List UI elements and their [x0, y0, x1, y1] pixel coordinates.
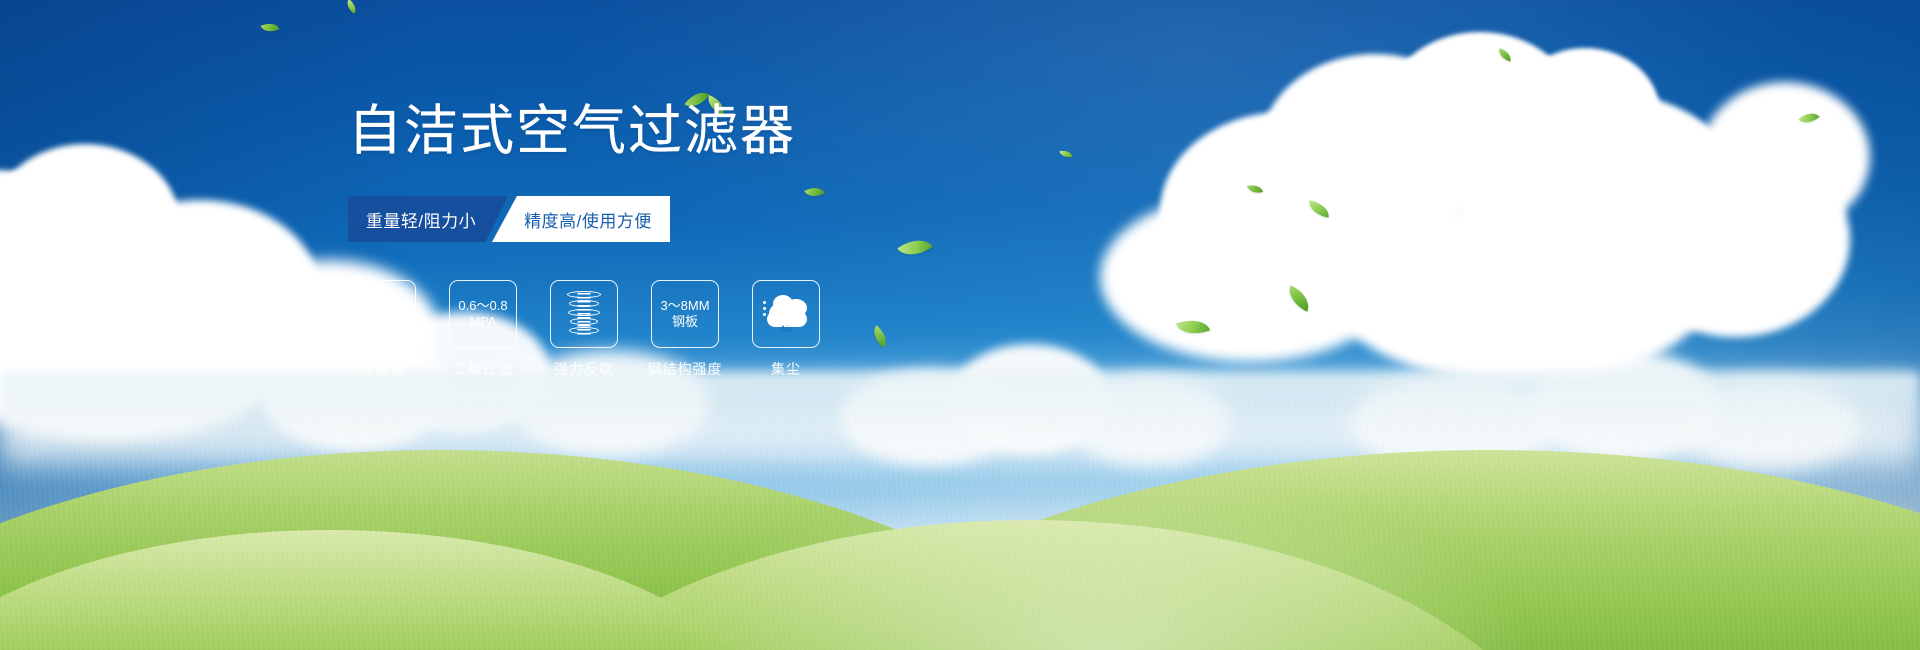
grass-highlight: [672, 470, 1536, 650]
feature-label: 控制仪: [360, 359, 405, 379]
hero-banner: 自洁式空气过滤器 重量轻/阻力小 精度高/使用方便: [0, 0, 1920, 650]
feature-label: 强力反吹: [554, 359, 614, 379]
feature-box: 0.6～0.8 MPA: [449, 280, 517, 348]
feature-box: NO OFF: [348, 280, 416, 348]
feature-box: Air: [752, 280, 820, 348]
cloud-right-large: [1080, 52, 1840, 362]
tag-lightweight[interactable]: 重量轻/阻力小: [348, 196, 508, 242]
page-title: 自洁式空气过滤器: [348, 104, 1048, 158]
feature-item-blowback[interactable]: 强力反吹: [550, 280, 618, 379]
feature-box: [550, 280, 618, 348]
steel-material: 钢板: [672, 314, 698, 330]
feature-item-pressure[interactable]: 0.6～0.8 MPA 二级过滤: [449, 280, 517, 379]
feature-item-controller[interactable]: NO OFF 控制仪: [348, 280, 416, 379]
gauge-label-off: OFF: [399, 330, 410, 336]
feature-label: 集尘: [771, 359, 801, 379]
air-dust-dots: [763, 301, 766, 319]
feature-list: NO OFF 控制仪 0.6～0.8 MPA 二级过滤: [348, 280, 1048, 379]
steel-thickness: 3～8MM: [660, 298, 709, 314]
air-cloud-icon: Air: [761, 293, 811, 335]
pressure-value: 0.6～0.8: [458, 298, 507, 314]
gauge-label-no: NO: [355, 313, 363, 319]
feature-item-steel[interactable]: 3～8MM 钢板 钢结构强度: [651, 280, 719, 379]
tag-bar: 重量轻/阻力小 精度高/使用方便: [348, 196, 670, 242]
feature-item-dust[interactable]: Air 集尘: [752, 280, 820, 379]
feature-label: 钢结构强度: [648, 359, 723, 379]
banner-content: 自洁式空气过滤器 重量轻/阻力小 精度高/使用方便: [348, 104, 1048, 379]
feature-box: 3～8MM 钢板: [651, 280, 719, 348]
gauge-icon: NO OFF: [356, 289, 408, 339]
feature-label: 二级过滤: [453, 359, 513, 379]
coil-icon: [562, 290, 606, 338]
pressure-unit: MPA: [469, 314, 496, 330]
grass-field: [0, 400, 1920, 650]
tag-precision[interactable]: 精度高/使用方便: [492, 196, 670, 242]
air-label: Air: [780, 324, 792, 334]
